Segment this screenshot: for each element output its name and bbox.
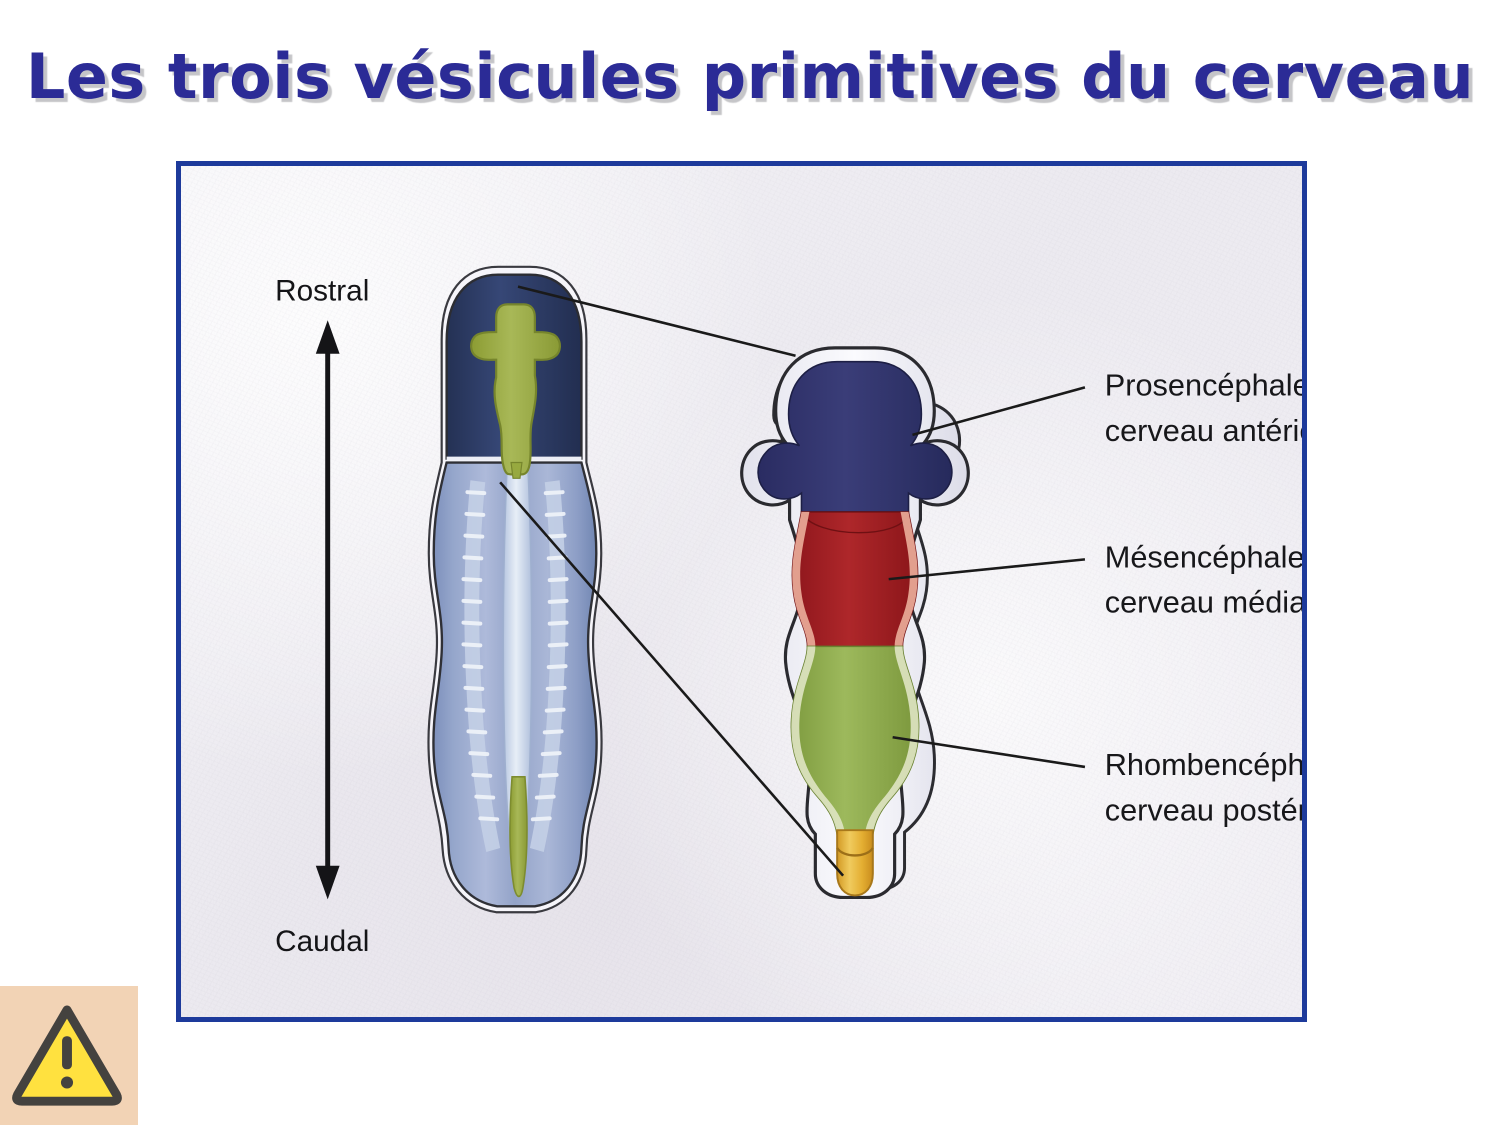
- brain-vesicles-diagram: Rostral Caudal: [181, 166, 1302, 1017]
- arrow-head-down: [316, 866, 340, 900]
- annotation-mesencephale-line1: Mésencéphale ou: [1105, 539, 1302, 574]
- annotation-rhombencephale-line1: Rhombencéphale ou: [1105, 747, 1302, 782]
- warning-exclamation-bar: [62, 1036, 72, 1069]
- spinal-cord: [837, 830, 873, 895]
- annotation-mesencephale: Mésencéphale ou cerveau médian: [1105, 539, 1302, 619]
- three-vesicles-view: [742, 348, 969, 898]
- page-title: Les trois vésicules primitives du cervea…: [0, 46, 1500, 108]
- arrow-head-up: [316, 320, 340, 354]
- annotation-prosencephale-line2: cerveau antérieur: [1105, 413, 1302, 448]
- figure-frame: Rostral Caudal: [176, 161, 1307, 1022]
- caudal-neural-canal: [510, 777, 527, 897]
- annotation-prosencephale-line1: Prosencéphale ou: [1105, 367, 1302, 402]
- neural-canal-neck: [511, 463, 522, 479]
- annotation-rhombencephale: Rhombencéphale ou cerveau postérieur: [1105, 747, 1302, 827]
- annotation-prosencephale: Prosencéphale ou cerveau antérieur: [1105, 367, 1302, 447]
- warning-exclamation-dot: [61, 1076, 73, 1088]
- neural-tube-dorsal-view: [428, 267, 601, 912]
- annotation-rhombencephale-line2: cerveau postérieur: [1105, 792, 1302, 827]
- direction-label-rostral: Rostral: [275, 274, 369, 307]
- warning-badge[interactable]: [0, 986, 138, 1125]
- annotation-mesencephale-line2: cerveau médian: [1105, 585, 1302, 620]
- warning-triangle-icon: [12, 1000, 122, 1110]
- direction-label-caudal: Caudal: [275, 925, 369, 958]
- direction-axis: Rostral Caudal: [275, 274, 369, 957]
